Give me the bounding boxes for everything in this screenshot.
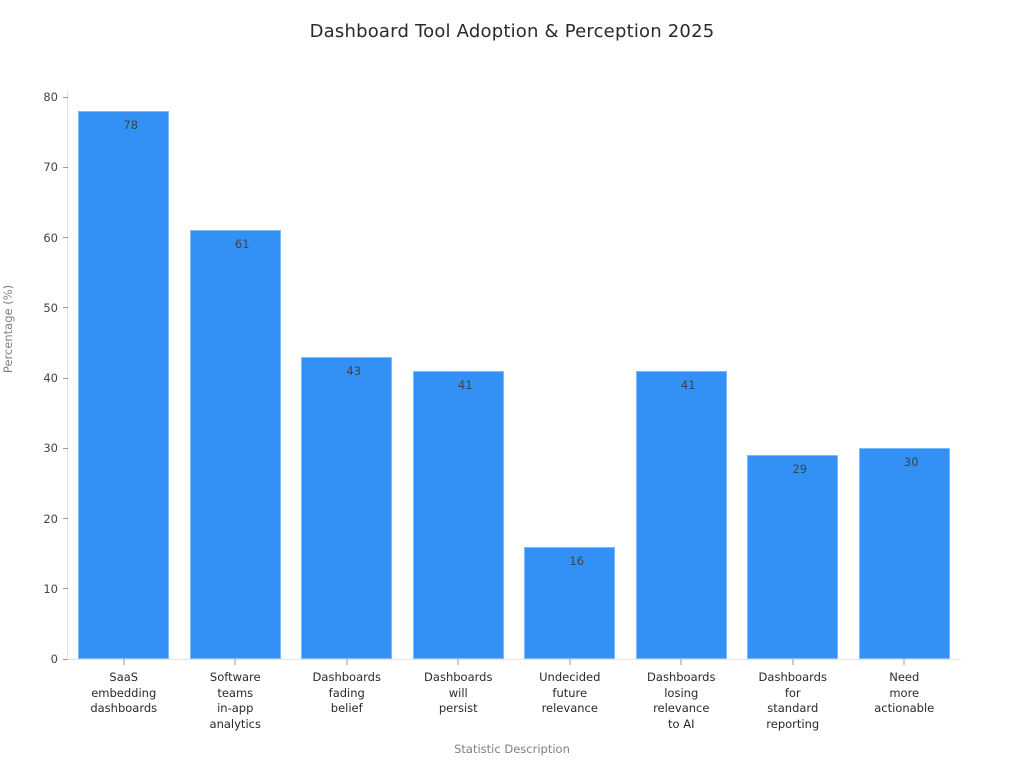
y-axis-tick: 40: [43, 371, 68, 385]
x-axis-tick-mark: [123, 659, 124, 665]
y-axis-tick: 10: [43, 582, 68, 596]
x-axis-tick-label-line: Dashboards: [393, 670, 523, 686]
x-axis-tick-label-line: will: [393, 686, 523, 702]
x-axis-tick-mark: [458, 659, 459, 665]
x-axis-tick-label-line: relevance: [616, 701, 746, 717]
y-axis-tick-label: 50: [43, 301, 63, 315]
x-axis-tick-label: SaaSembeddingdashboards: [59, 670, 189, 717]
bar[interactable]: 16: [524, 547, 615, 659]
x-axis-tick-mark: [569, 659, 570, 665]
bar-value-label: 43: [302, 364, 391, 378]
chart-figure: Dashboard Tool Adoption & Perception 202…: [0, 0, 1024, 768]
bar-value-label: 41: [637, 378, 726, 392]
x-axis-line: [67, 659, 961, 660]
y-axis-tick-label: 30: [43, 441, 63, 455]
x-axis-tick-label: Dashboardsforstandardreporting: [728, 670, 858, 732]
y-axis-title: Percentage (%): [1, 269, 15, 389]
bar-value-label: 78: [79, 118, 168, 132]
x-axis-tick-label-line: losing: [616, 686, 746, 702]
y-axis-tick-mark: [63, 518, 68, 519]
x-axis-tick-label-line: embedding: [59, 686, 189, 702]
y-axis-tick: 60: [43, 231, 68, 245]
x-axis-tick-label-line: teams: [170, 686, 300, 702]
bar-value-label: 29: [748, 462, 837, 476]
y-axis-tick: 80: [43, 90, 68, 104]
x-axis-tick-label-line: actionable: [839, 701, 969, 717]
y-axis-tick-label: 20: [43, 512, 63, 526]
x-axis-tick-mark: [235, 659, 236, 665]
y-axis-tick-label: 40: [43, 371, 63, 385]
y-axis-tick: 30: [43, 441, 68, 455]
bar-value-label: 16: [525, 554, 614, 568]
x-axis-tick-label: Undecidedfuturerelevance: [505, 670, 635, 717]
x-axis-tick-label-line: persist: [393, 701, 523, 717]
x-axis-tick-label-line: in-app: [170, 701, 300, 717]
x-axis-tick-label-line: belief: [282, 701, 412, 717]
x-axis-tick-label-line: analytics: [170, 717, 300, 733]
chart-title: Dashboard Tool Adoption & Perception 202…: [0, 21, 1024, 42]
x-axis-tick-label-line: Undecided: [505, 670, 635, 686]
bar-value-label: 41: [414, 378, 503, 392]
x-axis-tick-label-line: SaaS: [59, 670, 189, 686]
y-axis-tick-mark: [63, 167, 68, 168]
bar[interactable]: 30: [859, 448, 950, 659]
y-axis-tick: 50: [43, 301, 68, 315]
x-axis-tick-label-line: to AI: [616, 717, 746, 733]
x-axis-tick-mark: [681, 659, 682, 665]
bar[interactable]: 43: [301, 357, 392, 659]
x-axis-tick-label-line: standard: [728, 701, 858, 717]
y-axis-tick-label: 60: [43, 231, 63, 245]
x-axis-tick-label-line: Software: [170, 670, 300, 686]
y-axis-tick-mark: [63, 659, 68, 660]
x-axis-tick-mark: [904, 659, 905, 665]
y-axis-tick-label: 0: [51, 652, 63, 666]
y-axis-tick-label: 70: [43, 160, 63, 174]
y-axis-tick-mark: [63, 97, 68, 98]
x-axis-title: Statistic Description: [0, 742, 1024, 756]
y-axis-tick-label: 80: [43, 90, 63, 104]
x-axis-tick-label-line: fading: [282, 686, 412, 702]
x-axis-tick-label-line: Need: [839, 670, 969, 686]
x-axis-tick-label: Dashboardslosingrelevanceto AI: [616, 670, 746, 732]
plot-area: 010203040506070807861434116412930: [68, 90, 960, 659]
x-axis-tick-label-line: Dashboards: [728, 670, 858, 686]
bar[interactable]: 41: [636, 371, 727, 659]
x-axis-tick-label-line: future: [505, 686, 635, 702]
y-axis-tick: 0: [51, 652, 68, 666]
bar[interactable]: 78: [78, 111, 169, 659]
y-axis-tick-label: 10: [43, 582, 63, 596]
y-axis-tick: 20: [43, 512, 68, 526]
x-axis-tick-label: Needmoreactionable: [839, 670, 969, 717]
x-axis-tick-label-line: relevance: [505, 701, 635, 717]
y-axis-tick-mark: [63, 378, 68, 379]
y-axis-tick-mark: [63, 237, 68, 238]
x-axis-tick-label-line: Dashboards: [616, 670, 746, 686]
bar[interactable]: 61: [190, 230, 281, 659]
bar[interactable]: 41: [413, 371, 504, 659]
x-axis-tick-label: Softwareteamsin-appanalytics: [170, 670, 300, 732]
x-axis-tick-label-line: for: [728, 686, 858, 702]
x-axis-tick-mark: [346, 659, 347, 665]
y-axis-tick-mark: [63, 307, 68, 308]
bar-value-label: 30: [860, 455, 949, 469]
x-axis-tick-label: Dashboardswillpersist: [393, 670, 523, 717]
bar[interactable]: 29: [747, 455, 838, 659]
y-axis-tick: 70: [43, 160, 68, 174]
x-axis-tick-label-line: more: [839, 686, 969, 702]
x-axis-tick-mark: [792, 659, 793, 665]
x-axis-tick-label-line: reporting: [728, 717, 858, 733]
y-axis-tick-mark: [63, 448, 68, 449]
x-axis-tick-label-line: Dashboards: [282, 670, 412, 686]
x-axis-tick-label: Dashboardsfadingbelief: [282, 670, 412, 717]
x-axis-tick-label-line: dashboards: [59, 701, 189, 717]
y-axis-tick-mark: [63, 588, 68, 589]
bar-value-label: 61: [191, 237, 280, 251]
